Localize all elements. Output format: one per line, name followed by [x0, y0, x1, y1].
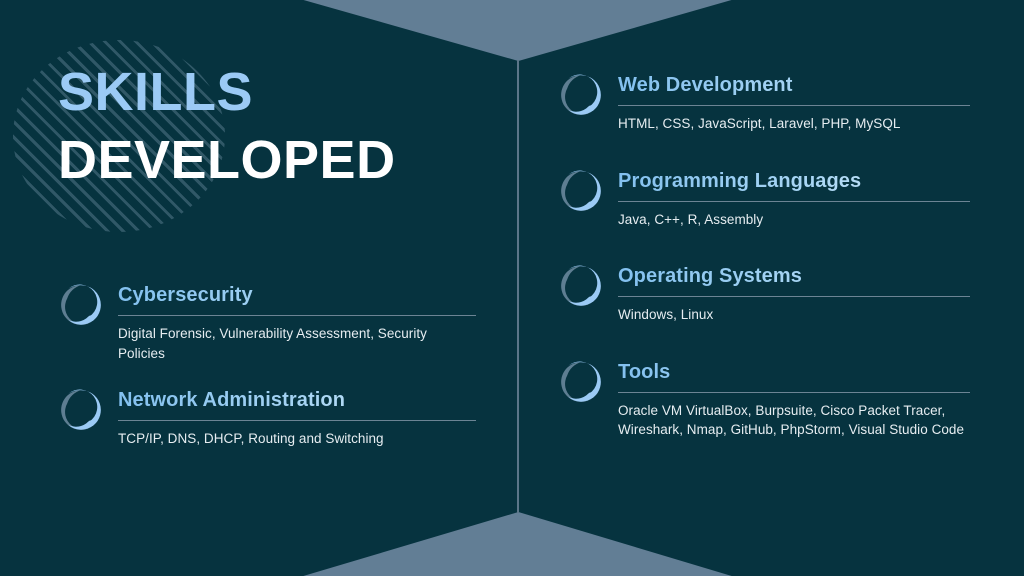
skill-title: Network Administration [118, 388, 476, 413]
skill-item-tools[interactable]: Tools Oracle VM VirtualBox, Burpsuite, C… [558, 357, 970, 440]
title-line-developed: DEVELOPED [58, 126, 478, 194]
skill-rule [618, 105, 970, 106]
skills-column-right: Web Development HTML, CSS, JavaScript, L… [558, 70, 970, 440]
skill-body: Programming Languages Java, C++, R, Asse… [618, 166, 970, 230]
page-title: SKILLS DEVELOPED [58, 58, 478, 194]
skill-item-cybersecurity[interactable]: Cybersecurity Digital Forensic, Vulnerab… [58, 280, 476, 363]
skill-description: Windows, Linux [618, 305, 970, 325]
skill-body: Tools Oracle VM VirtualBox, Burpsuite, C… [618, 357, 970, 440]
skill-title: Operating Systems [618, 264, 970, 289]
ring-swirl-icon [558, 72, 604, 118]
skill-title: Cybersecurity [118, 283, 476, 308]
ring-swirl-icon [58, 282, 104, 328]
skill-description: Java, C++, R, Assembly [618, 210, 970, 230]
title-line-skills: SKILLS [58, 58, 478, 126]
skill-rule [118, 315, 476, 316]
skill-rule [618, 296, 970, 297]
ring-swirl-icon [558, 359, 604, 405]
skill-item-web-development[interactable]: Web Development HTML, CSS, JavaScript, L… [558, 70, 970, 134]
skills-column-left: Cybersecurity Digital Forensic, Vulnerab… [58, 280, 476, 449]
center-divider-line [517, 60, 519, 513]
skill-body: Web Development HTML, CSS, JavaScript, L… [618, 70, 970, 134]
skill-body: Cybersecurity Digital Forensic, Vulnerab… [118, 280, 476, 363]
skill-body: Network Administration TCP/IP, DNS, DHCP… [118, 385, 476, 449]
skill-item-operating-systems[interactable]: Operating Systems Windows, Linux [558, 261, 970, 325]
ring-swirl-icon [558, 168, 604, 214]
skill-title: Programming Languages [618, 169, 970, 194]
skill-title: Tools [618, 360, 970, 385]
skill-rule [618, 201, 970, 202]
skill-body: Operating Systems Windows, Linux [618, 261, 970, 325]
ring-swirl-icon [58, 387, 104, 433]
skill-description: Oracle VM VirtualBox, Burpsuite, Cisco P… [618, 401, 970, 440]
slide-canvas: SKILLS DEVELOPED Cybersecurity Digital F… [0, 0, 1024, 576]
skill-item-programming-languages[interactable]: Programming Languages Java, C++, R, Asse… [558, 166, 970, 230]
chevron-top-decoration [300, 0, 735, 61]
skill-description: HTML, CSS, JavaScript, Laravel, PHP, MyS… [618, 114, 970, 134]
skill-item-network-administration[interactable]: Network Administration TCP/IP, DNS, DHCP… [58, 385, 476, 449]
skill-description: TCP/IP, DNS, DHCP, Routing and Switching [118, 429, 476, 449]
skill-rule [118, 420, 476, 421]
skill-rule [618, 392, 970, 393]
chevron-bottom-decoration [300, 512, 735, 576]
ring-swirl-icon [558, 263, 604, 309]
skill-title: Web Development [618, 73, 970, 98]
skill-description: Digital Forensic, Vulnerability Assessme… [118, 324, 476, 363]
